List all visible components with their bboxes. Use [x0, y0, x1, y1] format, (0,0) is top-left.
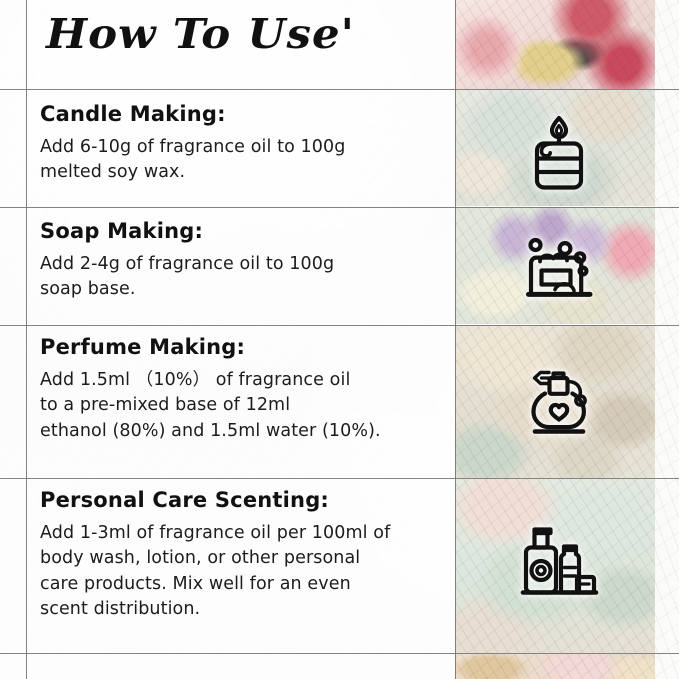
photo-strip-rule — [455, 0, 456, 679]
left-margin-rule — [26, 0, 27, 679]
divider-rule-2 — [0, 207, 679, 208]
section-heading: Candle Making: — [40, 103, 440, 126]
photo-line-texture — [455, 654, 655, 679]
section-candle-making: Candle Making: Add 6-10g of fragrance oi… — [40, 103, 440, 186]
divider-rule-4 — [0, 478, 679, 479]
section-body: Add 1.5ml （10%） of fragrance oil to a pr… — [40, 368, 440, 444]
page-title: How To Use' — [46, 14, 355, 55]
section-body: Add 6-10g of fragrance oil to 100g melte… — [40, 135, 440, 186]
section-heading: Personal Care Scenting: — [40, 489, 440, 512]
section-soap-making: Soap Making: Add 2-4g of fragrance oil t… — [40, 220, 440, 303]
photo-line-texture — [455, 0, 655, 89]
personal-care-bottles-icon — [517, 522, 601, 606]
section-heading: Soap Making: — [40, 220, 440, 243]
section-heading: Perfume Making: — [40, 336, 440, 359]
candle-icon — [517, 112, 601, 196]
divider-rule-5 — [0, 653, 679, 654]
divider-rule-3 — [0, 325, 679, 326]
section-body: Add 2-4g of fragrance oil to 100g soap b… — [40, 252, 440, 303]
photo-tile-roses-top — [455, 0, 655, 89]
section-perfume-making: Perfume Making: Add 1.5ml （10%） of fragr… — [40, 336, 440, 444]
divider-rule-1 — [0, 89, 679, 90]
soap-bar-icon — [517, 232, 601, 316]
section-personal-care-scenting: Personal Care Scenting: Add 1-3ml of fra… — [40, 489, 440, 623]
right-margin-strip — [655, 0, 679, 679]
how-to-use-poster: How To Use' Candle Making: Add 6-10g of … — [0, 0, 679, 679]
perfume-bottle-icon — [517, 362, 601, 446]
photo-tile-bottom — [455, 654, 655, 679]
section-body: Add 1-3ml of fragrance oil per 100ml of … — [40, 521, 440, 623]
